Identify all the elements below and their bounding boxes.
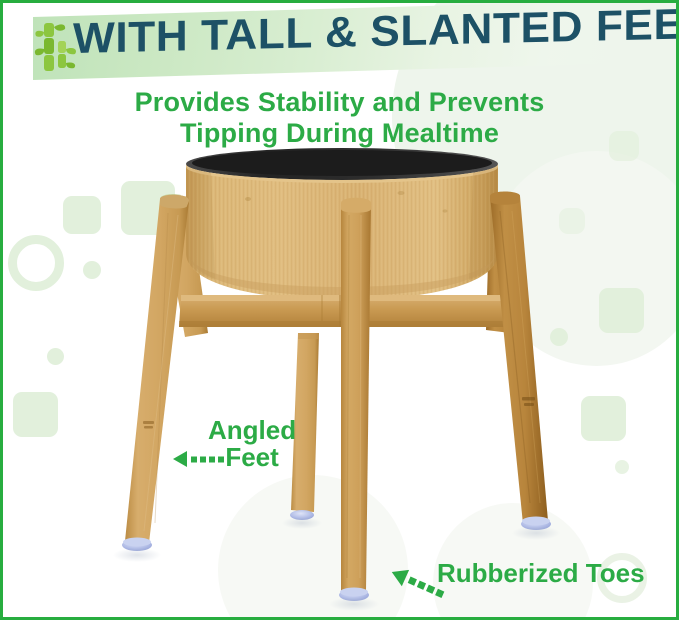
product-illustration — [3, 3, 679, 620]
dashed-arrow-down-left-icon — [387, 564, 455, 606]
stand-leg-front-left — [113, 195, 189, 562]
callout-angled-feet-line-1: Angled — [208, 417, 296, 444]
stand-leg-front-right — [490, 192, 560, 541]
callout-rubberized-toes: Rubberized Toes — [437, 560, 645, 587]
product-feature-image: WITH TALL & SLANTED FEET Provides Stabil… — [0, 0, 679, 620]
dashed-arrow-left-icon — [173, 450, 233, 468]
